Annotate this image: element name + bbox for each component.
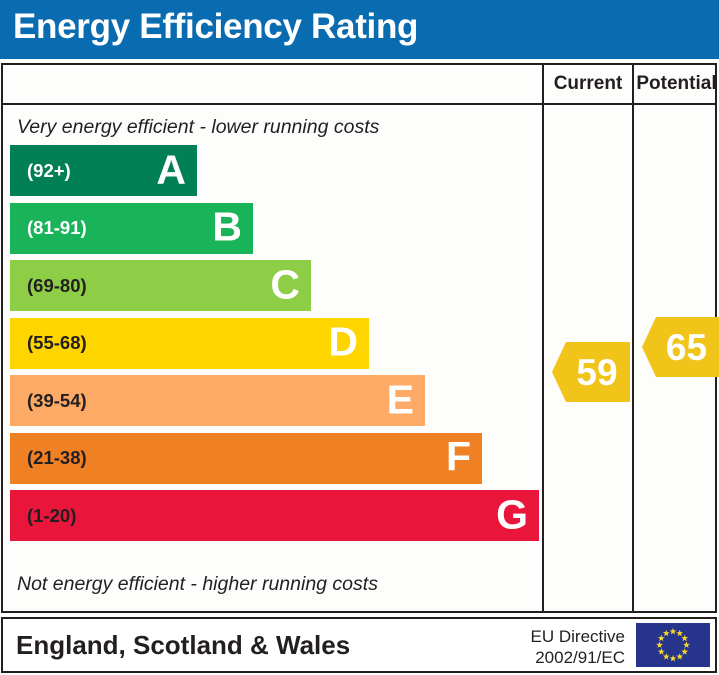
band-letter-g: G: [496, 494, 528, 535]
band-bar-c: (69-80)C: [10, 260, 311, 311]
band-letter-glyph: A: [156, 146, 186, 192]
band-bar-e: (39-54)E: [10, 375, 425, 426]
eu-star: [663, 653, 670, 660]
column-header-current: Current: [544, 65, 632, 103]
current-rating-value: 59: [564, 354, 617, 391]
eu-star: [676, 653, 683, 660]
band-letter-glyph: D: [328, 319, 358, 365]
band-letter-f: F: [446, 437, 471, 478]
directive-line-1: EU Directive: [531, 626, 625, 647]
eu-star: [683, 641, 690, 648]
footer-region-label: England, Scotland & Wales: [16, 630, 350, 661]
column-divider-1: [542, 65, 544, 611]
column-divider-2: [632, 65, 634, 611]
band-letter-glyph: G: [496, 491, 528, 537]
footer-directive: EU Directive 2002/91/EC: [531, 626, 625, 669]
band-letter-glyph: C: [270, 261, 300, 307]
eu-stars-svg: [636, 623, 710, 667]
band-range-label-c: (69-80): [27, 275, 87, 297]
band-range-label-d: (55-68): [27, 332, 87, 354]
eu-star: [656, 641, 663, 648]
column-header-row: Current Potential: [3, 65, 715, 105]
band-letter-glyph: E: [387, 376, 414, 422]
eu-star: [658, 648, 665, 655]
footer-bar: England, Scotland & Wales EU Directive 2…: [1, 617, 717, 673]
band-letter-e: E: [387, 379, 414, 420]
band-bar-d: (55-68)D: [10, 318, 369, 369]
band-range-label-f: (21-38): [27, 447, 87, 469]
caption-efficient: Very energy efficient - lower running co…: [17, 116, 379, 139]
band-bar-f: (21-38)F: [10, 433, 482, 484]
band-range-label-b: (81-91): [27, 217, 87, 239]
band-letter-a: A: [156, 149, 186, 190]
eu-star: [658, 635, 665, 642]
eu-star: [676, 630, 683, 637]
rating-table: Current Potential Very energy efficient …: [1, 63, 717, 613]
title-banner: Energy Efficiency Rating: [0, 0, 719, 59]
band-bar-b: (81-91)B: [10, 203, 253, 254]
page-title: Energy Efficiency Rating: [13, 7, 418, 47]
band-range-label-g: (1-20): [27, 505, 76, 527]
eu-star: [670, 655, 677, 662]
potential-rating-arrow: 65: [642, 317, 719, 377]
directive-line-2: 2002/91/EC: [531, 647, 625, 668]
band-列: Very energy efficient - lower running co…: [3, 105, 542, 611]
current-rating-arrow: 59: [552, 342, 630, 402]
band-range-label-e: (39-54): [27, 390, 87, 412]
eu-star: [681, 648, 688, 655]
band-letter-d: D: [328, 322, 358, 363]
column-header-potential: Potential: [634, 65, 719, 103]
band-bar-g: (1-20)G: [10, 490, 539, 541]
band-letter-b: B: [212, 207, 242, 248]
eu-star: [681, 635, 688, 642]
caption-inefficient: Not energy efficient - higher running co…: [17, 573, 378, 596]
band-bar-a: (92+)A: [10, 145, 197, 196]
band-letter-c: C: [270, 264, 300, 305]
band-letter-glyph: F: [446, 434, 471, 480]
epc-energy-efficiency-chart: Energy Efficiency Rating Current Potenti…: [0, 0, 719, 675]
potential-rating-value: 65: [654, 329, 707, 366]
band-range-label-a: (92+): [27, 160, 71, 182]
eu-star: [670, 628, 677, 635]
eu-star: [663, 630, 670, 637]
band-letter-glyph: B: [212, 204, 242, 250]
eu-flag-icon: [636, 623, 710, 667]
